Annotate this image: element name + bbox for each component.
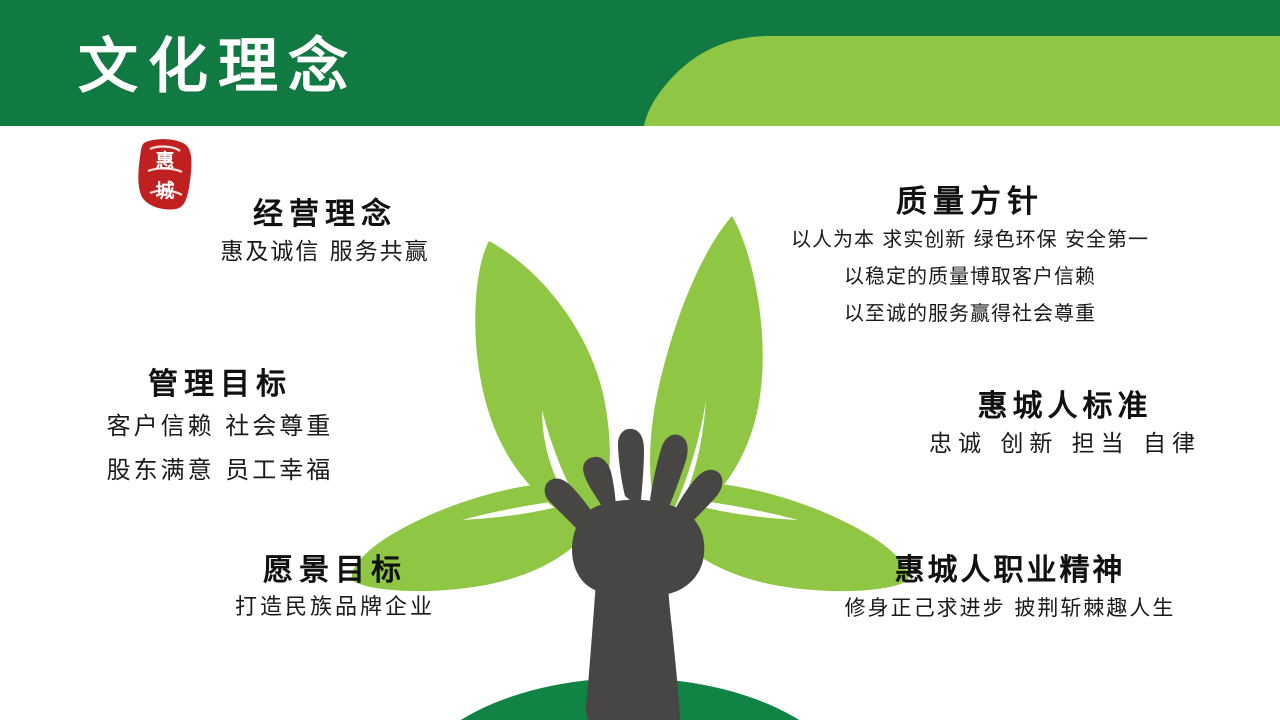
block-line: 股东满意 员工幸福: [60, 448, 380, 492]
block-heading: 愿景目标: [180, 552, 490, 590]
block-quality-policy: 质量方针 以人为本 求实创新 绿色环保 安全第一 以稳定的质量博取客户信赖 以至…: [760, 183, 1180, 332]
block-line: 打造民族品牌企业: [180, 590, 490, 626]
palm: [572, 500, 704, 598]
block-heading: 惠城人职业精神: [800, 552, 1220, 590]
seal-char-hui: 惠: [155, 150, 174, 172]
arm-trunk: [586, 578, 680, 720]
block-line: 以稳定的质量博取客户信赖: [760, 258, 1180, 295]
block-line: 客户信赖 社会尊重: [60, 404, 380, 448]
block-heading: 惠城人标准: [900, 388, 1230, 426]
slide-canvas: 文化理念 惠 城: [0, 0, 1280, 720]
block-staff-standard: 惠城人标准 忠诚 创新 担当 自律: [900, 388, 1230, 462]
header-banner: 文化理念: [0, 0, 1280, 126]
block-heading: 质量方针: [760, 183, 1180, 221]
block-line: 以人为本 求实创新 绿色环保 安全第一: [760, 221, 1180, 258]
block-line: 以至诚的服务赢得社会尊重: [760, 295, 1180, 332]
block-vision-goal: 愿景目标 打造民族品牌企业: [180, 552, 490, 626]
block-line: 惠及诚信 服务共赢: [160, 234, 490, 270]
block-business-philosophy: 经营理念 惠及诚信 服务共赢: [160, 196, 490, 270]
block-professional-spirit: 惠城人职业精神 修身正己求进步 披荆斩棘趣人生: [800, 552, 1220, 626]
page-title: 文化理念: [78, 32, 358, 102]
block-heading: 经营理念: [160, 196, 490, 234]
block-line: 修身正己求进步 披荆斩棘趣人生: [800, 590, 1220, 626]
block-heading: 管理目标: [60, 366, 380, 404]
block-management-goal: 管理目标 客户信赖 社会尊重 股东满意 员工幸福: [60, 366, 380, 492]
header-light-green-curve: [644, 36, 1280, 126]
block-line: 忠诚 创新 担当 自律: [900, 426, 1230, 462]
finger-middle: [618, 429, 644, 508]
